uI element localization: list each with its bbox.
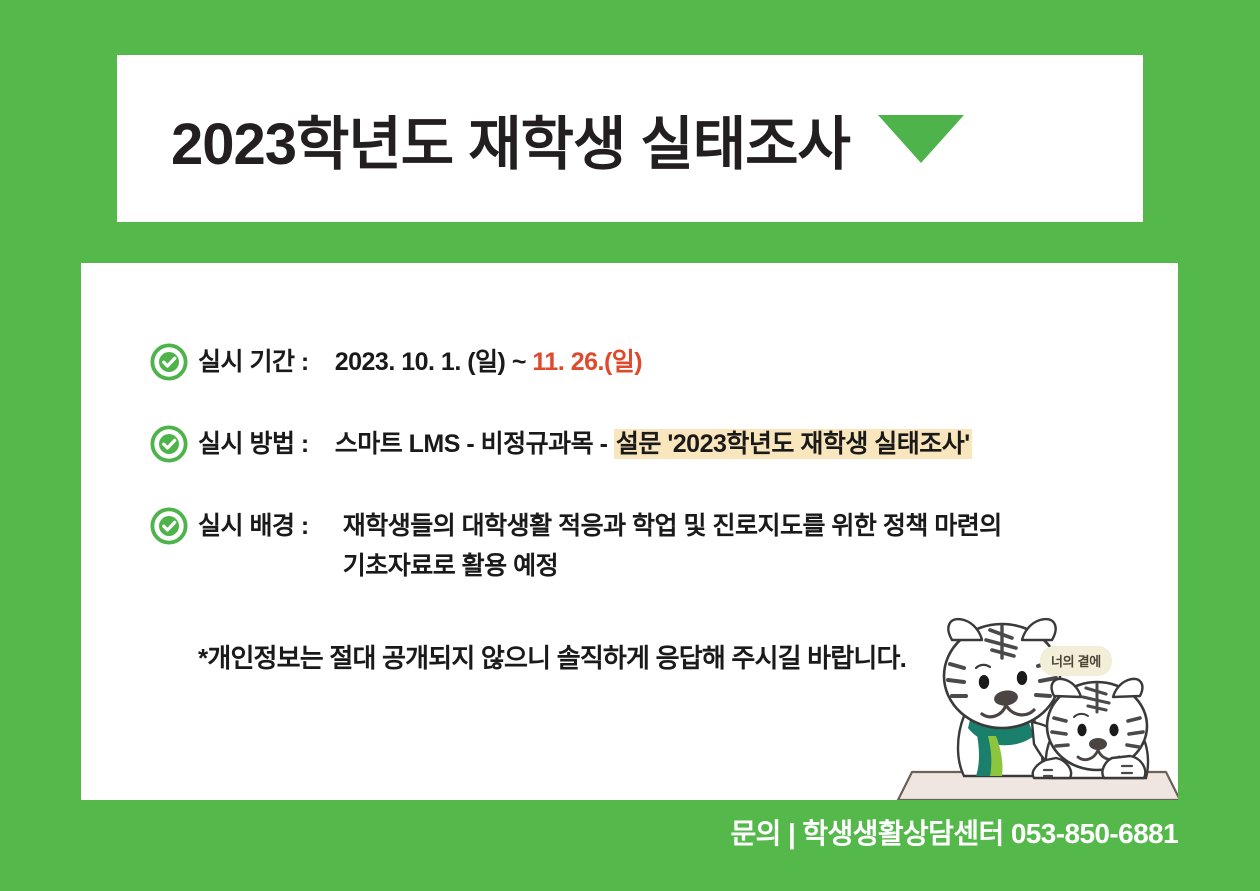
row-label-method: 실시 방법 : xyxy=(198,424,309,464)
main-content-panel: 실시 기간 : 2023. 10. 1. (일) ~ 11. 26.(일) 실시… xyxy=(81,263,1178,800)
row-value-method: 스마트 LMS - 비정규과목 - 설문 '2023학년도 재학생 실태조사' xyxy=(335,424,972,464)
triangle-down-icon xyxy=(878,115,964,163)
period-start-text: 2023. 10. 1. (일) ~ xyxy=(335,348,533,376)
title-panel: 2023학년도 재학생 실태조사 xyxy=(117,55,1143,222)
info-row-period: 실시 기간 : 2023. 10. 1. (일) ~ 11. 26.(일) xyxy=(150,342,1150,382)
mascot-speech-bubble: 너의 곁에 xyxy=(1040,646,1112,676)
row-label-background: 실시 배경 : xyxy=(198,506,309,546)
contact-footer: 문의 | 학생생활상담센터 053-850-6881 xyxy=(730,812,1178,852)
period-end-text: 11. 26.(일) xyxy=(532,348,642,376)
white-tiger-mascot: 너의 곁에 xyxy=(894,604,1178,800)
info-row-background: 실시 배경 : 재학생들의 대학생활 적응과 학업 및 진로지도를 위한 정책 … xyxy=(150,506,1150,586)
row-value-period: 2023. 10. 1. (일) ~ 11. 26.(일) xyxy=(335,342,642,382)
page-title: 2023학년도 재학생 실태조사 xyxy=(171,97,850,181)
info-row-method: 실시 방법 : 스마트 LMS - 비정규과목 - 설문 '2023학년도 재학… xyxy=(150,424,1150,464)
method-path-text: 스마트 LMS - 비정규과목 - xyxy=(335,430,614,458)
method-survey-name-highlight: 설문 '2023학년도 재학생 실태조사' xyxy=(614,429,972,459)
check-circle-icon xyxy=(150,507,188,545)
row-value-background: 재학생들의 대학생활 적응과 학업 및 진로지도를 위한 정책 마련의 기초자료… xyxy=(343,506,1002,586)
background-line-2: 기초자료로 활용 예정 xyxy=(343,546,1002,586)
check-circle-icon xyxy=(150,343,188,381)
tiger-illustration xyxy=(894,604,1178,800)
check-circle-icon xyxy=(150,425,188,463)
background-line-1: 재학생들의 대학생활 적응과 학업 및 진로지도를 위한 정책 마련의 xyxy=(343,506,1002,546)
row-label-period: 실시 기간 : xyxy=(198,342,309,382)
